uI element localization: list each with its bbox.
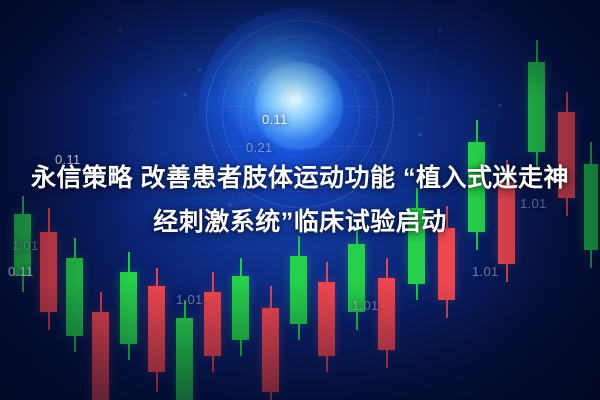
headline-line-1: 永信策略 改善患者肢体运动功能 “植入式迷走神 <box>31 164 569 192</box>
stock-news-banner: 0.110.210.111.011.010.111.011.011.01 永信策… <box>0 0 600 400</box>
headline: 永信策略 改善患者肢体运动功能 “植入式迷走神 经刺激系统”临床试验启动 <box>0 156 600 244</box>
headline-line-2: 经刺激系统”临床试验启动 <box>0 200 600 244</box>
